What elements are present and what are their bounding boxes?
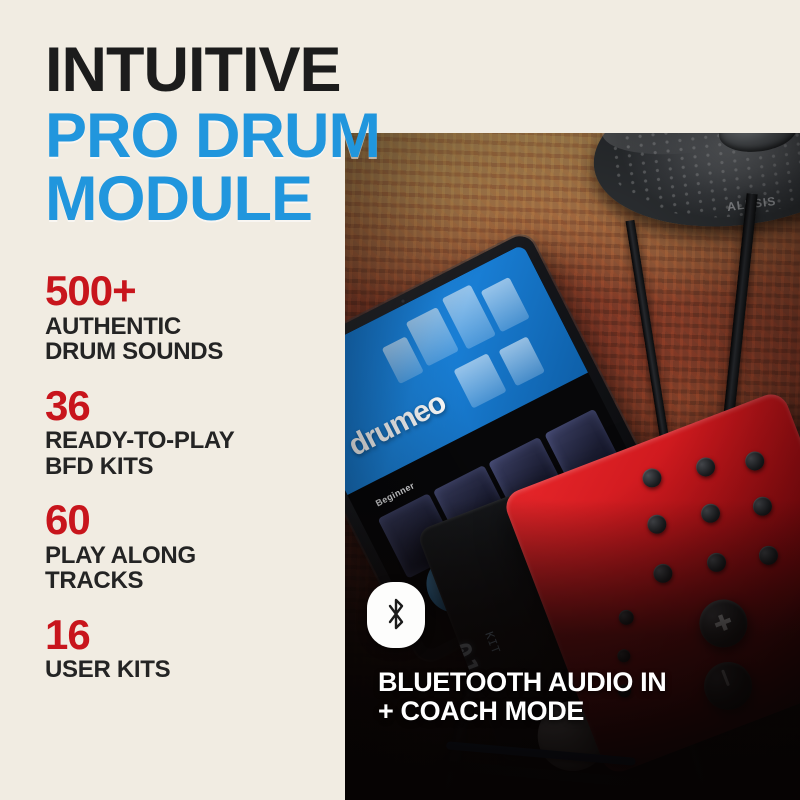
feature-number: 60 <box>45 501 345 540</box>
headline-line-3: MODULE <box>45 169 515 229</box>
feature-label: PLAY ALONG TRACKS <box>45 543 345 594</box>
feature-item: 36 READY-TO-PLAY BFD KITS <box>45 387 345 480</box>
feature-label: READY-TO-PLAY BFD KITS <box>45 428 345 479</box>
feature-item: 500+ AUTHENTIC DRUM SOUNDS <box>45 272 345 365</box>
headline-line-1: INTUITIVE <box>45 40 515 100</box>
photo-bottom-shade <box>345 500 800 800</box>
caption-line-1: BLUETOOTH AUDIO IN <box>378 668 798 697</box>
feature-item: 16 USER KITS <box>45 616 345 683</box>
feature-label: USER KITS <box>45 657 345 682</box>
product-graphic: ALESIS drumeo Beginner <box>0 0 800 800</box>
feature-label: AUTHENTIC DRUM SOUNDS <box>45 314 345 365</box>
feature-number: 16 <box>45 616 345 655</box>
feature-item: 60 PLAY ALONG TRACKS <box>45 501 345 594</box>
caption-line-2: + COACH MODE <box>378 697 798 726</box>
headline: INTUITIVE PRO DRUM MODULE <box>45 40 515 229</box>
feature-list: 500+ AUTHENTIC DRUM SOUNDS 36 READY-TO-P… <box>45 272 345 705</box>
bluetooth-icon <box>381 594 411 636</box>
feature-number: 500+ <box>45 272 345 311</box>
caption: BLUETOOTH AUDIO IN + COACH MODE <box>378 668 798 726</box>
feature-number: 36 <box>45 387 345 426</box>
headline-line-2: PRO DRUM <box>45 106 515 166</box>
bluetooth-badge <box>367 582 425 648</box>
